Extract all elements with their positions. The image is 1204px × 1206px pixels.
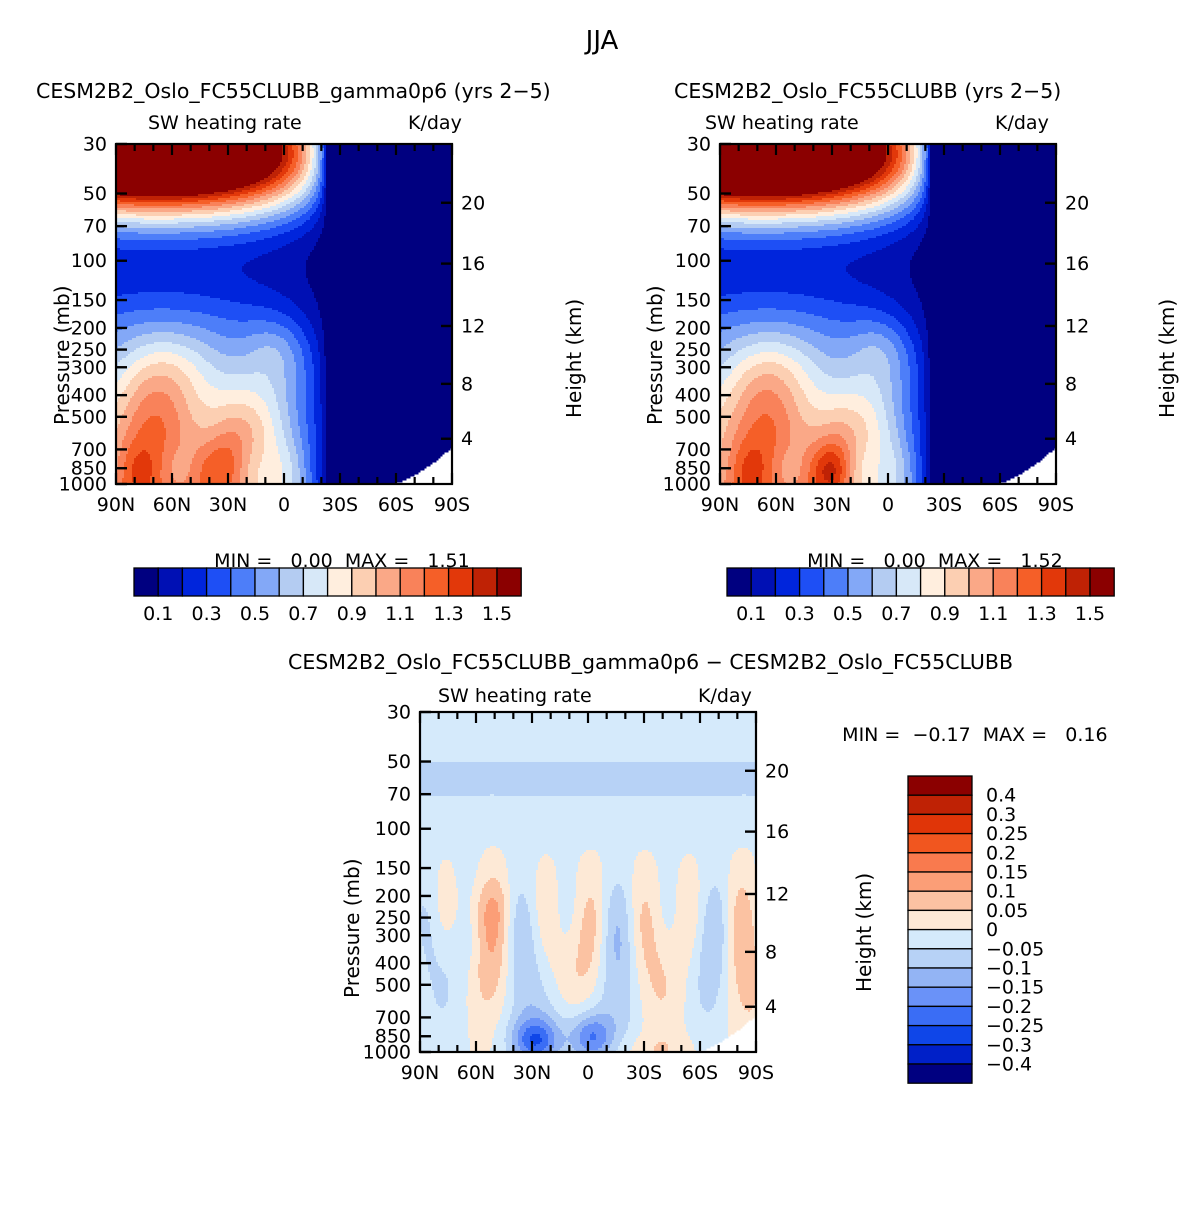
colorbar-cell[interactable] [908, 949, 972, 968]
colorbar-label-0.3: 0.3 [784, 603, 814, 625]
colorbar-cell[interactable] [158, 568, 182, 596]
colorbar-cell[interactable] [908, 834, 972, 853]
colorbar-cell[interactable] [908, 891, 972, 910]
colorbar-label-−0.4: −0.4 [986, 1054, 1032, 1076]
colorbar-label-0.1: 0.1 [143, 603, 173, 625]
colorbar-cell[interactable] [908, 987, 972, 1006]
colorbar-cell[interactable] [908, 910, 972, 929]
colorbar-label-0.9: 0.9 [337, 603, 367, 625]
panel-top-left-colorbar[interactable]: 0.10.30.50.70.91.11.31.5 [0, 0, 600, 640]
colorbar-cell[interactable] [908, 1026, 972, 1045]
colorbar-cell[interactable] [376, 568, 400, 596]
colorbar-cell[interactable] [824, 568, 848, 596]
colorbar-cell[interactable] [908, 1045, 972, 1064]
colorbar-label-1.1: 1.1 [385, 603, 415, 625]
colorbar-label-0.5: 0.5 [833, 603, 863, 625]
panel-difference: CESM2B2_Oslo_FC55CLUBB_gamma0p6 − CESM2B… [0, 640, 1204, 1206]
colorbar-cell[interactable] [800, 568, 824, 596]
colorbar-label-1.3: 1.3 [433, 603, 463, 625]
colorbar-cell[interactable] [303, 568, 327, 596]
colorbar-label-0.3: 0.3 [191, 603, 221, 625]
colorbar-swatches[interactable]: 0.10.30.50.70.91.11.31.5 [727, 568, 1114, 625]
colorbar-label-1.5: 1.5 [1075, 603, 1105, 625]
colorbar-cell[interactable] [908, 968, 972, 987]
colorbar-cell[interactable] [1017, 568, 1041, 596]
colorbar-cell[interactable] [908, 1006, 972, 1025]
colorbar-cell[interactable] [908, 1064, 972, 1083]
colorbar-cell[interactable] [207, 568, 231, 596]
colorbar-label-0.1: 0.1 [736, 603, 766, 625]
colorbar-cell[interactable] [1090, 568, 1114, 596]
colorbar-cell[interactable] [908, 853, 972, 872]
colorbar-cell[interactable] [908, 872, 972, 891]
colorbar-cell[interactable] [473, 568, 497, 596]
panel-top-left: CESM2B2_Oslo_FC55CLUBB_gamma0p6 (yrs 2−5… [0, 0, 600, 640]
colorbar-cell[interactable] [908, 814, 972, 833]
colorbar-swatches[interactable]: 0.40.30.250.20.150.10.050−0.05−0.1−0.15−… [908, 776, 1044, 1083]
colorbar-cell[interactable] [848, 568, 872, 596]
colorbar-cell[interactable] [993, 568, 1017, 596]
colorbar-cell[interactable] [279, 568, 303, 596]
colorbar-label-1.1: 1.1 [978, 603, 1008, 625]
colorbar-cell[interactable] [908, 930, 972, 949]
colorbar-cell[interactable] [449, 568, 473, 596]
colorbar-label-0.5: 0.5 [240, 603, 270, 625]
panel-top-right: CESM2B2_Oslo_FC55CLUBB (yrs 2−5) SW heat… [604, 0, 1204, 640]
colorbar-cell[interactable] [424, 568, 448, 596]
colorbar-label-0.7: 0.7 [288, 603, 318, 625]
colorbar-cell[interactable] [896, 568, 920, 596]
colorbar-cell[interactable] [1066, 568, 1090, 596]
panel-difference-colorbar[interactable]: 0.40.30.250.20.150.10.050−0.05−0.1−0.15−… [0, 640, 1204, 1206]
colorbar-cell[interactable] [908, 795, 972, 814]
colorbar-cell[interactable] [921, 568, 945, 596]
colorbar-cell[interactable] [908, 776, 972, 795]
colorbar-cell[interactable] [497, 568, 521, 596]
colorbar-cell[interactable] [182, 568, 206, 596]
colorbar-label-0.9: 0.9 [930, 603, 960, 625]
colorbar-cell[interactable] [751, 568, 775, 596]
colorbar-cell[interactable] [945, 568, 969, 596]
colorbar-cell[interactable] [1042, 568, 1066, 596]
colorbar-cell[interactable] [775, 568, 799, 596]
colorbar-swatches[interactable]: 0.10.30.50.70.91.11.31.5 [134, 568, 521, 625]
panel-top-right-colorbar[interactable]: 0.10.30.50.70.91.11.31.5 [604, 0, 1204, 640]
colorbar-cell[interactable] [872, 568, 896, 596]
colorbar-cell[interactable] [727, 568, 751, 596]
colorbar-cell[interactable] [231, 568, 255, 596]
colorbar-cell[interactable] [328, 568, 352, 596]
colorbar-cell[interactable] [352, 568, 376, 596]
colorbar-label-1.3: 1.3 [1026, 603, 1056, 625]
colorbar-cell[interactable] [255, 568, 279, 596]
colorbar-label-1.5: 1.5 [482, 603, 512, 625]
colorbar-label-0.7: 0.7 [881, 603, 911, 625]
colorbar-cell[interactable] [134, 568, 158, 596]
colorbar-cell[interactable] [969, 568, 993, 596]
colorbar-cell[interactable] [400, 568, 424, 596]
